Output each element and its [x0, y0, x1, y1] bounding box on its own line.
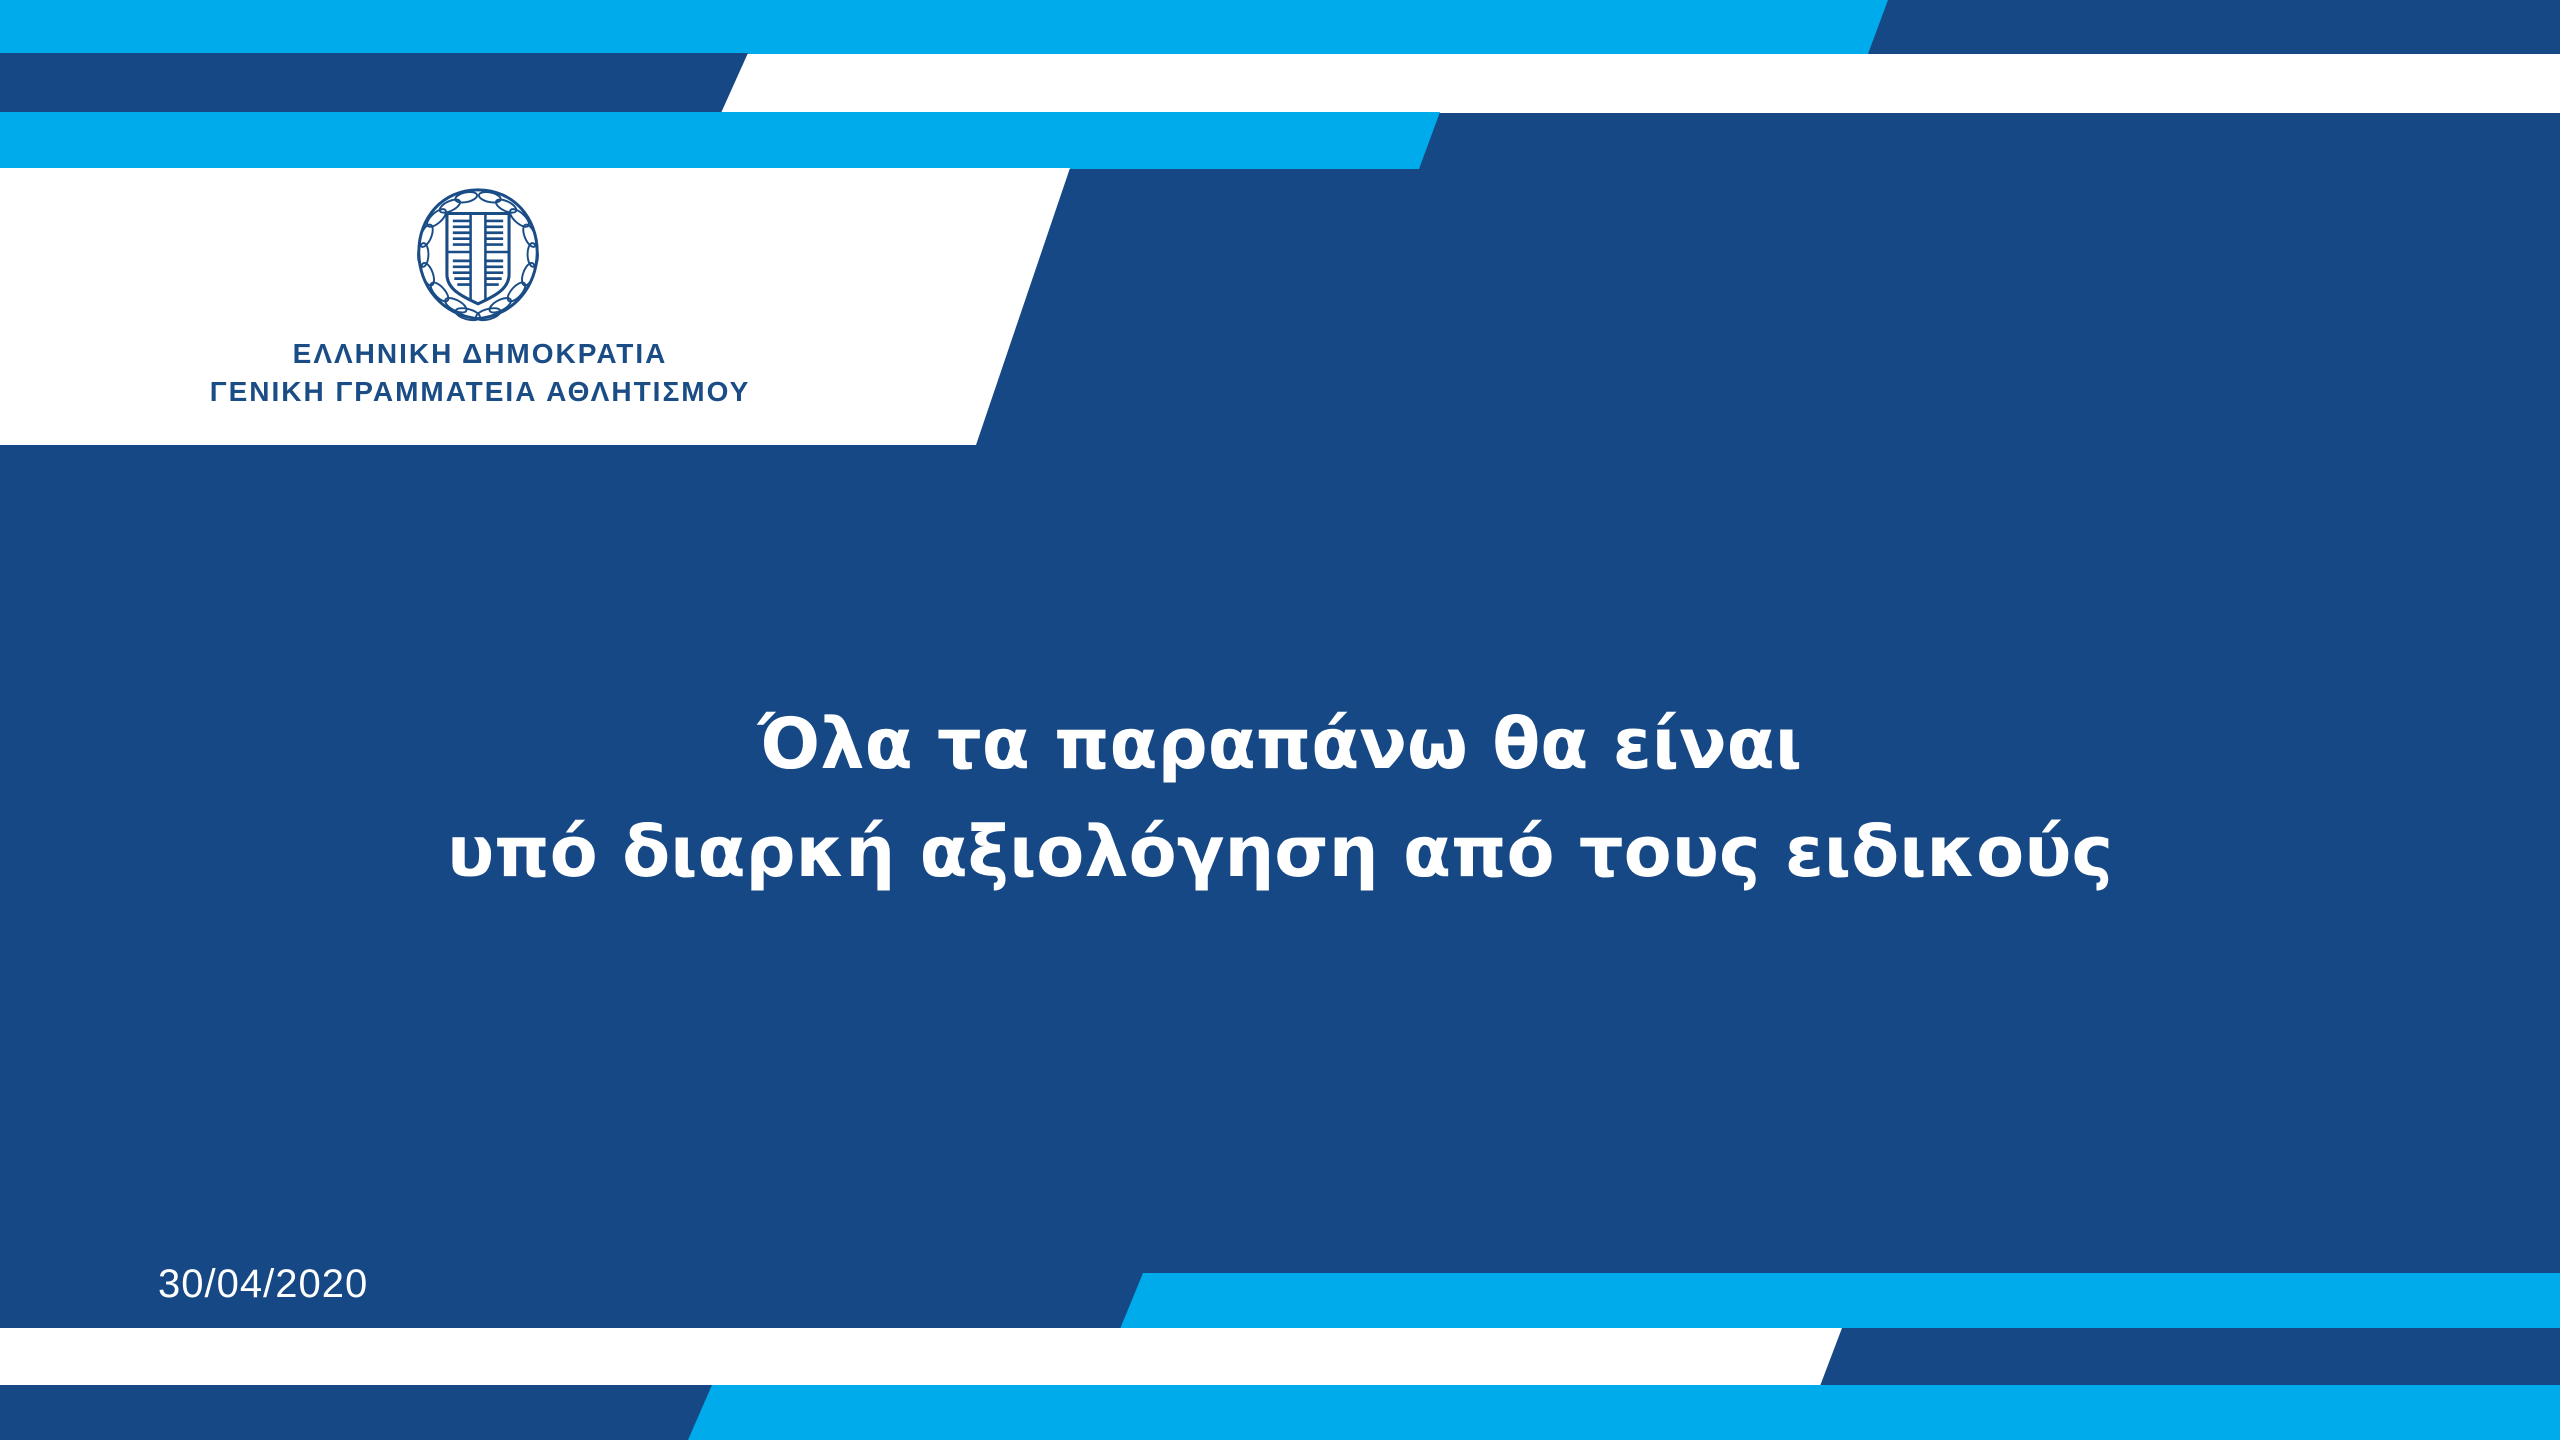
org-line-secretariat: ΓΕΝΙΚΗ ΓΡΑΜΜΑΤΕΙΑ ΑΘΛΗΤΙΣΜΟΥ	[0, 373, 960, 411]
organisation-name: ΕΛΛΗΝΙΚΗ ΔΗΜΟΚΡΑΤΙΑ ΓΕΝΙΚΗ ΓΡΑΜΜΑΤΕΙΑ ΑΘ…	[0, 335, 960, 411]
bottom-stripe-navy-1	[1820, 1328, 2560, 1386]
top-stripe-navy-2	[0, 53, 748, 113]
top-stripe-white	[0, 53, 2560, 113]
bottom-stripe-cyan-2	[0, 1385, 2560, 1440]
bottom-stripe-white	[0, 1328, 1845, 1386]
bottom-stripe-cyan-1	[1120, 1273, 2560, 1329]
org-line-republic: ΕΛΛΗΝΙΚΗ ΔΗΜΟΚΡΑΤΙΑ	[0, 335, 960, 373]
slide-title: Όλα τα παραπάνω θα είναι υπό διαρκή αξιο…	[0, 690, 2560, 906]
greek-coat-of-arms-icon	[404, 178, 552, 326]
bottom-stripe-navy-2	[0, 1385, 712, 1440]
slide-title-line-1: Όλα τα παραπάνω θα είναι	[0, 690, 2560, 798]
presentation-slide: ΕΛΛΗΝΙΚΗ ΔΗΜΟΚΡΑΤΙΑ ΓΕΝΙΚΗ ΓΡΑΜΜΑΤΕΙΑ ΑΘ…	[0, 0, 2560, 1440]
top-stripe-navy-1	[1868, 0, 2560, 54]
top-stripe-cyan-1	[0, 0, 1890, 54]
top-stripe-cyan-2	[0, 112, 1440, 169]
slide-date: 30/04/2020	[158, 1262, 368, 1307]
slide-title-line-2: υπό διαρκή αξιολόγηση από τους ειδικούς	[0, 798, 2560, 906]
